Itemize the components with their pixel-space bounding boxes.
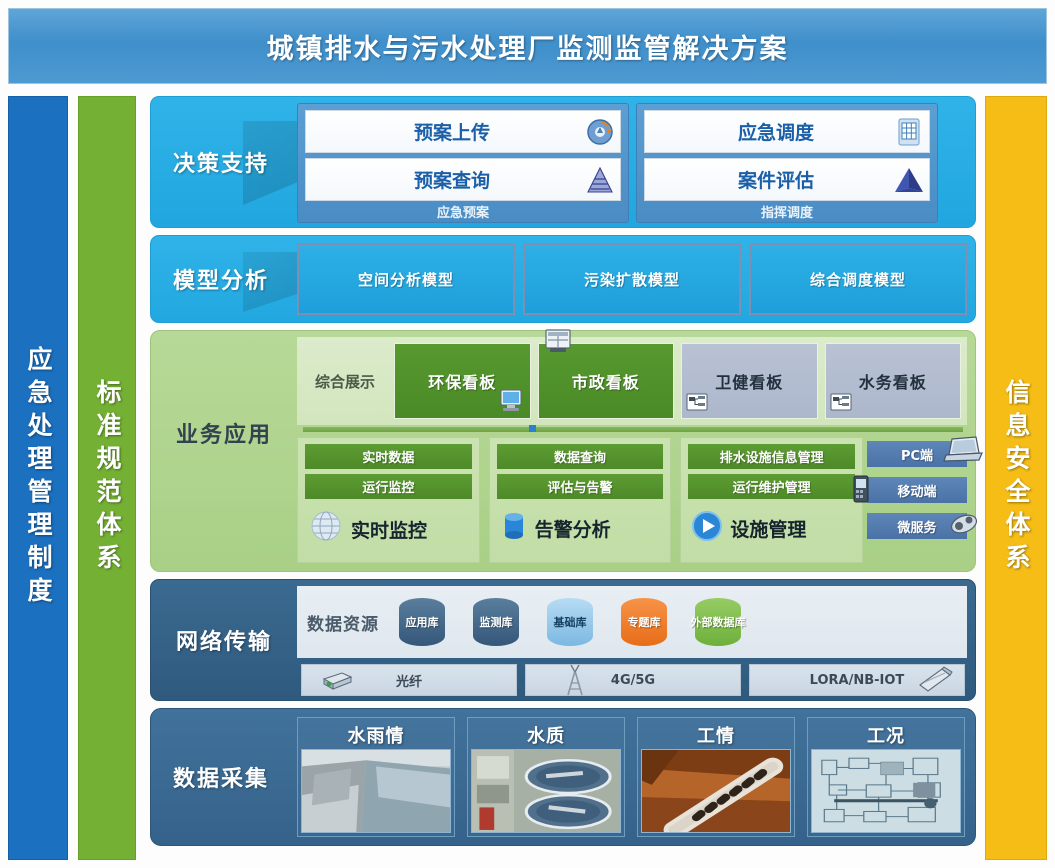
acquisition-card-project-status-label: 工情 bbox=[641, 721, 791, 749]
dashboard-card-health-label: 卫健看板 bbox=[715, 369, 783, 393]
node-chart-icon bbox=[830, 392, 852, 416]
business-column-alarm: 数据查询 评估与告警 告警分析 bbox=[489, 437, 672, 563]
database-external-label: 外部数据库 bbox=[691, 616, 746, 629]
comprehensive-display-label: 综合展示 bbox=[303, 371, 387, 392]
dashboard-card-municipal[interactable]: 市政看板 bbox=[538, 343, 675, 419]
decision-card-emergency-dispatch[interactable]: 应急调度 bbox=[644, 110, 930, 153]
model-card-integrated-dispatch[interactable]: 综合调度模型 bbox=[749, 243, 967, 315]
business-chip-drainage-facility-info[interactable]: 排水设施信息管理 bbox=[688, 444, 855, 469]
decision-card-plan-upload[interactable]: 预案上传 bbox=[305, 110, 621, 153]
model-card-list: 空间分析模型 污染扩散模型 综合调度模型 bbox=[297, 243, 967, 315]
acquisition-card-water-quality-label: 水质 bbox=[471, 721, 621, 749]
business-feature-alarm-analysis-label: 告警分析 bbox=[535, 515, 611, 542]
laptop-icon bbox=[943, 435, 983, 469]
dashboard-card-health[interactable]: 卫健看板 bbox=[681, 343, 818, 419]
diagram-root: 城镇排水与污水处理厂监测监管解决方案 应急处理管理制度 标准规范体系 信息安全体… bbox=[0, 0, 1055, 868]
window-icon bbox=[543, 328, 573, 358]
business-feature-alarm-analysis[interactable]: 告警分析 bbox=[497, 509, 664, 547]
decision-card-plan-query[interactable]: 预案查询 bbox=[305, 158, 621, 201]
pyramid-striped-icon bbox=[580, 166, 620, 194]
monitor-icon bbox=[498, 388, 524, 416]
network-link-lora-nbiot[interactable]: LORA/NB-IOT bbox=[749, 664, 965, 696]
device-button-pc[interactable]: PC端 bbox=[867, 441, 967, 467]
recycle-circle-icon bbox=[580, 117, 620, 147]
business-feature-facility-management-label: 设施管理 bbox=[730, 515, 806, 542]
pillar-emergency-management-label: 应急处理管理制度 bbox=[20, 346, 56, 610]
business-chip-operation-monitoring[interactable]: 运行监控 bbox=[305, 474, 472, 499]
decision-card-case-assessment-label: 案件评估 bbox=[645, 166, 889, 193]
band-network-transmission: 网络传输 数据资源 应用库 监测库 基础库 专题库 bbox=[150, 579, 976, 701]
decision-group-command-dispatch: 应急调度 案件评估 bbox=[636, 103, 938, 223]
dashboard-card-environment[interactable]: 环保看板 bbox=[394, 343, 531, 419]
decision-card-emergency-dispatch-label: 应急调度 bbox=[645, 118, 889, 145]
business-column-monitoring: 实时数据 运行监控 实时监控 bbox=[297, 437, 480, 563]
device-button-list: PC端 移动端 bbox=[867, 441, 967, 549]
band-network-transmission-label: 网络传输 bbox=[151, 580, 297, 700]
device-button-microservice[interactable]: 微服务 bbox=[867, 513, 967, 539]
band-decision-support: 决策支持 预案上传 预案查询 bbox=[150, 96, 976, 228]
pillar-emergency-management: 应急处理管理制度 bbox=[8, 96, 68, 860]
dashboard-row: 综合展示 环保看板 市政看板 bbox=[297, 337, 967, 425]
pipeline-trench-photo bbox=[641, 749, 791, 833]
dashboard-card-municipal-label: 市政看板 bbox=[572, 369, 640, 393]
globe-icon bbox=[307, 509, 345, 549]
acquisition-card-operating-condition-label: 工况 bbox=[811, 721, 961, 749]
decision-card-plan-upload-label: 预案上传 bbox=[306, 118, 580, 145]
cylinder-icon bbox=[499, 509, 529, 547]
decision-group-emergency-plan: 预案上传 预案查询 bbox=[297, 103, 629, 223]
dashboard-card-water-affairs-label: 水务看板 bbox=[859, 369, 927, 393]
pillar-standards-system: 标准规范体系 bbox=[78, 96, 136, 860]
business-column-facility: 排水设施信息管理 运行维护管理 设施管理 bbox=[680, 437, 863, 563]
device-button-mobile-label: 移动端 bbox=[897, 481, 936, 500]
sensor-icon bbox=[916, 665, 956, 697]
acquisition-card-water-rain[interactable]: 水雨情 bbox=[297, 717, 455, 837]
network-link-fiber-label: 光纤 bbox=[396, 671, 422, 690]
decision-card-plan-query-label: 预案查询 bbox=[306, 166, 580, 193]
page-title: 城镇排水与污水处理厂监测监管解决方案 bbox=[267, 27, 789, 66]
database-basic-label: 基础库 bbox=[554, 616, 587, 629]
band-data-acquisition-label: 数据采集 bbox=[151, 709, 291, 845]
database-basic[interactable]: 基础库 bbox=[539, 594, 601, 650]
data-resource-label: 数据资源 bbox=[307, 610, 379, 635]
model-card-spatial[interactable]: 空间分析模型 bbox=[297, 243, 515, 315]
business-chip-operation-maintenance[interactable]: 运行维护管理 bbox=[688, 474, 855, 499]
acquisition-card-list: 水雨情 水质 bbox=[297, 717, 965, 837]
process-schematic-photo bbox=[811, 749, 961, 833]
database-thematic[interactable]: 专题库 bbox=[613, 594, 675, 650]
business-chip-assessment-alarm[interactable]: 评估与告警 bbox=[497, 474, 664, 499]
pillar-standards-system-label: 标准规范体系 bbox=[89, 379, 125, 577]
grid-calculator-icon bbox=[889, 117, 929, 147]
business-column-list: 实时数据 运行监控 实时监控 数据查询 bbox=[297, 437, 863, 563]
node-chart-icon bbox=[686, 392, 708, 416]
play-circle-icon bbox=[690, 509, 724, 547]
database-monitoring-label: 监测库 bbox=[480, 616, 513, 629]
decision-group-command-dispatch-footer: 指挥调度 bbox=[644, 206, 930, 222]
clarifier-tanks-photo bbox=[471, 749, 621, 833]
network-link-lora-nbiot-label: LORA/NB-IOT bbox=[810, 673, 905, 688]
database-monitoring[interactable]: 监测库 bbox=[465, 594, 527, 650]
database-application-label: 应用库 bbox=[406, 616, 439, 629]
band-decision-support-label: 决策支持 bbox=[151, 97, 291, 227]
business-feature-realtime-monitoring[interactable]: 实时监控 bbox=[305, 509, 472, 549]
decision-card-case-assessment[interactable]: 案件评估 bbox=[644, 158, 930, 201]
network-link-4g5g[interactable]: 4G/5G bbox=[525, 664, 741, 696]
business-chip-data-query[interactable]: 数据查询 bbox=[497, 444, 664, 469]
band-model-analysis: 模型分析 空间分析模型 污染扩散模型 综合调度模型 bbox=[150, 235, 976, 323]
divider-marker-icon bbox=[529, 425, 536, 432]
dashboard-card-water-affairs[interactable]: 水务看板 bbox=[825, 343, 962, 419]
model-card-pollution-diffusion[interactable]: 污染扩散模型 bbox=[523, 243, 741, 315]
band-business-application-label: 业务应用 bbox=[151, 403, 297, 463]
acquisition-card-water-rain-label: 水雨情 bbox=[301, 721, 451, 749]
decision-group-emergency-plan-footer: 应急预案 bbox=[305, 206, 621, 222]
device-button-mobile[interactable]: 移动端 bbox=[867, 477, 967, 503]
device-button-microservice-label: 微服务 bbox=[897, 517, 936, 536]
dashboard-divider bbox=[303, 427, 963, 432]
device-icon bbox=[947, 509, 981, 541]
data-resource-row: 数据资源 应用库 监测库 基础库 专题库 bbox=[297, 586, 967, 658]
page-title-bar: 城镇排水与污水处理厂监测监管解决方案 bbox=[8, 8, 1047, 84]
business-feature-facility-management[interactable]: 设施管理 bbox=[688, 509, 855, 547]
network-link-4g5g-label: 4G/5G bbox=[611, 673, 655, 688]
network-link-fiber[interactable]: 光纤 bbox=[301, 664, 517, 696]
band-data-acquisition: 数据采集 水雨情 bbox=[150, 708, 976, 846]
database-application[interactable]: 应用库 bbox=[391, 594, 453, 650]
pillar-information-security-label: 信息安全体系 bbox=[998, 379, 1034, 577]
fiber-cable-icon bbox=[320, 667, 354, 697]
device-button-pc-label: PC端 bbox=[901, 445, 933, 464]
network-link-list: 光纤 4G/5G LORA/NB-IOT bbox=[301, 664, 965, 696]
pillar-information-security: 信息安全体系 bbox=[985, 96, 1047, 860]
antenna-tower-icon bbox=[562, 663, 588, 701]
layer-stack: 决策支持 预案上传 预案查询 bbox=[150, 96, 976, 860]
mobile-phone-icon bbox=[849, 473, 873, 509]
band-business-application: 业务应用 综合展示 环保看板 市政看板 bbox=[150, 330, 976, 572]
pyramid-dark-icon bbox=[889, 166, 929, 194]
dashboard-card-environment-label: 环保看板 bbox=[428, 369, 496, 393]
band-model-analysis-label: 模型分析 bbox=[151, 236, 291, 322]
acquisition-card-project-status[interactable]: 工情 bbox=[637, 717, 795, 837]
riverbank-channel-photo bbox=[301, 749, 451, 833]
database-thematic-label: 专题库 bbox=[628, 616, 661, 629]
business-chip-realtime-data[interactable]: 实时数据 bbox=[305, 444, 472, 469]
acquisition-card-water-quality[interactable]: 水质 bbox=[467, 717, 625, 837]
database-external[interactable]: 外部数据库 bbox=[687, 594, 749, 650]
business-feature-realtime-monitoring-label: 实时监控 bbox=[351, 516, 427, 543]
acquisition-card-operating-condition[interactable]: 工况 bbox=[807, 717, 965, 837]
